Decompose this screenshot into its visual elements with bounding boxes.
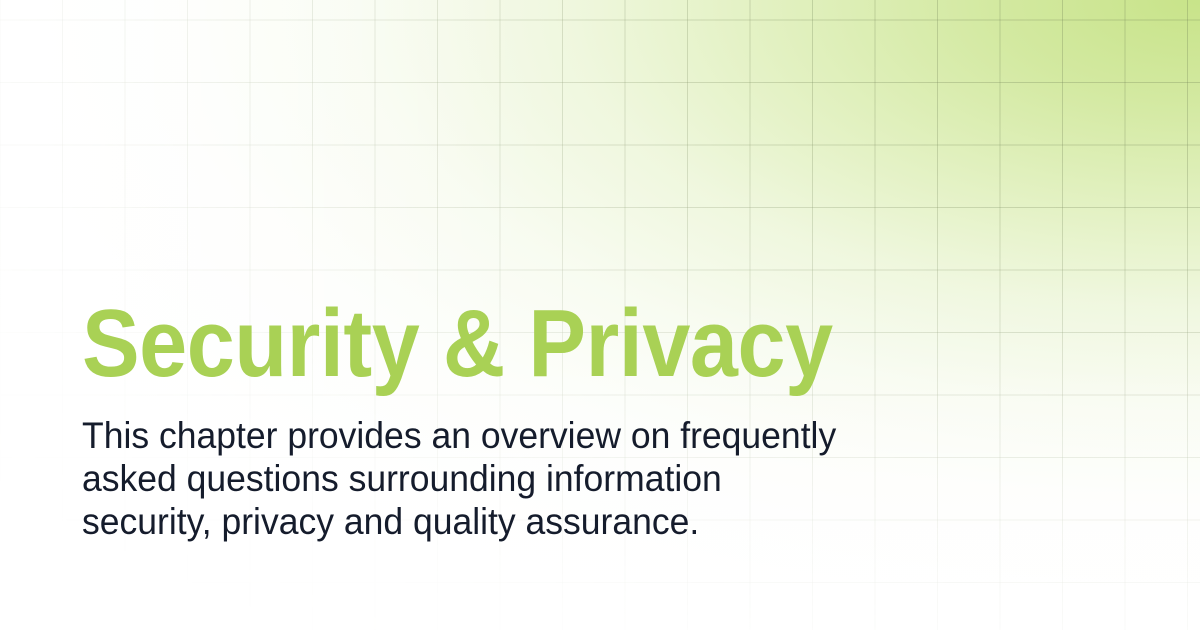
chapter-description: This chapter provides an overview on fre… [82,392,840,543]
chapter-text-block: Security & Privacy This chapter provides… [82,296,1082,543]
chapter-cover-slide: Security & Privacy This chapter provides… [0,0,1200,630]
chapter-title: Security & Privacy [82,296,982,392]
